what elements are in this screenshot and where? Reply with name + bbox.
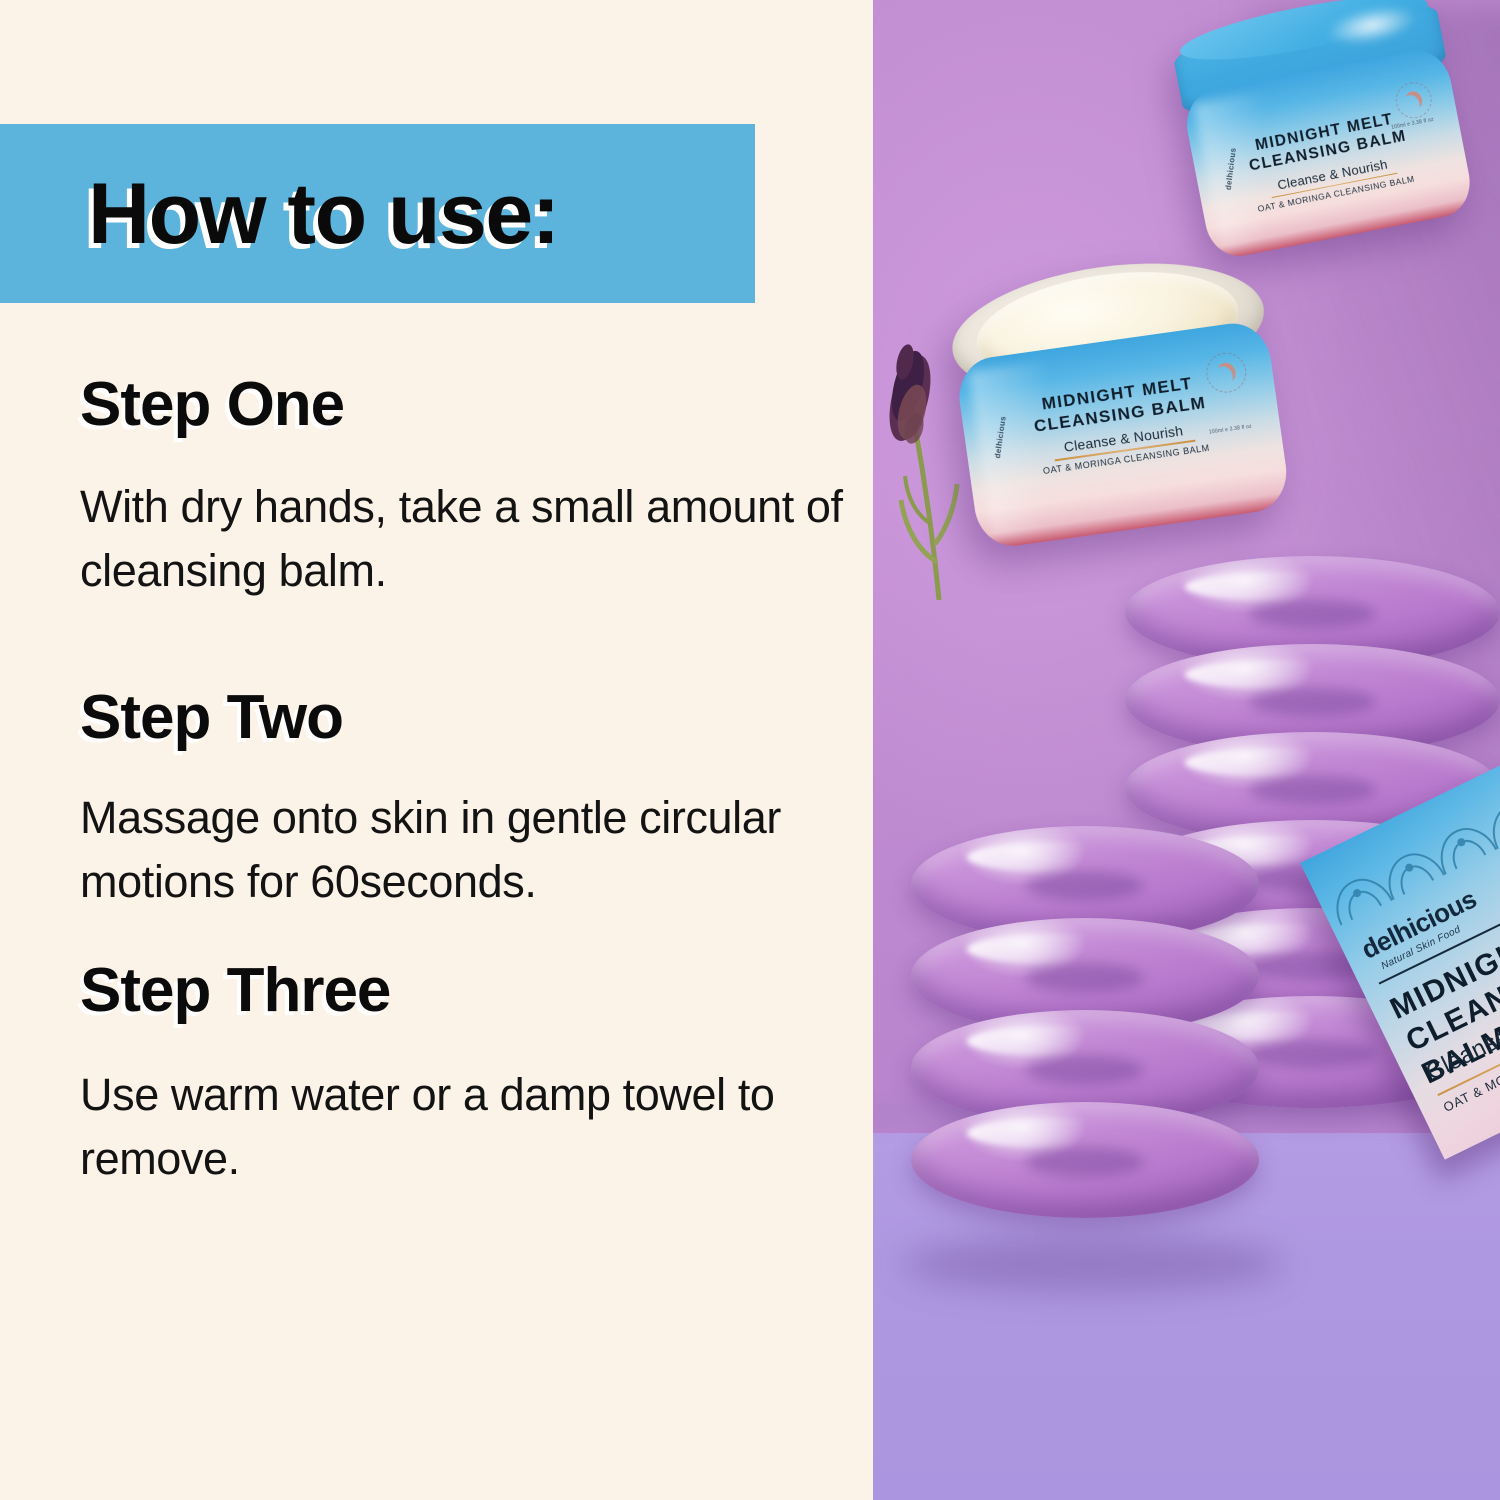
step-two-heading: Step Two	[80, 685, 890, 750]
ring-gloss	[967, 1026, 1127, 1056]
title-banner: How to use:	[0, 124, 755, 303]
step-item-one: Step One With dry hands, take a small am…	[80, 372, 890, 603]
step-one-body: With dry hands, take a small amount of c…	[80, 475, 890, 603]
ring-gloss	[967, 1118, 1127, 1148]
ring-gloss	[1185, 660, 1358, 689]
page-title: How to use:	[88, 171, 559, 257]
step-item-two: Step Two Massage onto skin in gentle cir…	[80, 685, 890, 914]
step-one-heading: Step One	[80, 372, 890, 437]
product-jar-open: delhicious MIDNIGHT MELT CLEANSING BALM …	[944, 245, 1292, 554]
instructions-panel: How to use: Step One With dry hands, tak…	[0, 0, 873, 1500]
moon-icon	[1402, 89, 1425, 112]
steps-list: Step One With dry hands, take a small am…	[80, 372, 890, 1191]
ring-shape	[911, 1102, 1259, 1218]
step-two-body: Massage onto skin in gentle circular mot…	[80, 786, 890, 914]
step-item-three: Step Three Use warm water or a damp towe…	[80, 958, 890, 1191]
how-to-use-graphic: How to use: Step One With dry hands, tak…	[0, 0, 1500, 1500]
product-photo: delhicious MIDNIGHT MELT CLEANSING BALM …	[873, 0, 1500, 1500]
ring-gloss	[1185, 748, 1358, 777]
step-three-body: Use warm water or a damp towel to remove…	[80, 1063, 890, 1191]
stack-shadow-front	[903, 1236, 1283, 1292]
ring-gloss	[1185, 572, 1358, 601]
step-three-heading: Step Three	[80, 958, 890, 1023]
ring-gloss	[967, 934, 1127, 964]
ring-gloss	[967, 842, 1127, 872]
moon-icon	[1214, 360, 1239, 386]
